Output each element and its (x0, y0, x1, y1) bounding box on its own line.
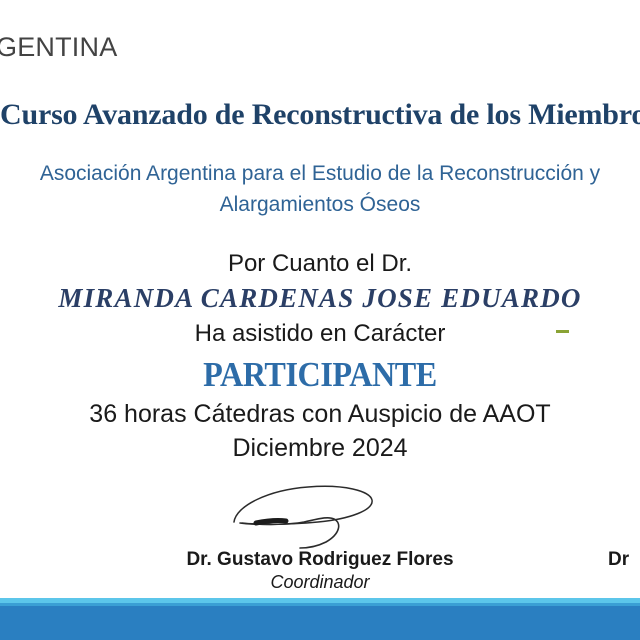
certificate-title: Curso Avanzado de Reconstructiva de los … (0, 98, 640, 132)
participation-type: PARTICIPANTE (26, 355, 615, 395)
hours-line: 36 horas Cátedras con Auspicio de AAOT (0, 400, 640, 429)
subtitle-line-1: Asociación Argentina para el Estudio de … (40, 162, 600, 185)
signature-primary-role: Coordinador (0, 572, 640, 593)
signature-primary-name: Dr. Gustavo Rodriguez Flores (0, 549, 640, 571)
ha-asistido-label: Ha asistido en Carácter (0, 320, 640, 348)
por-cuanto-label: Por Cuanto el Dr. (0, 250, 640, 278)
organization-name-clipped: GENTINA (0, 32, 117, 63)
signature-secondary-name-clipped: Dr (608, 549, 629, 571)
certificate-subtitle: Asociación Argentina para el Estudio de … (0, 158, 640, 220)
subtitle-line-2: Alargamientos Óseos (0, 189, 640, 220)
footer-accent-bar-main (0, 606, 640, 640)
certificate-page: GENTINA Curso Avanzado de Reconstructiva… (0, 0, 640, 640)
date-line: Diciembre 2024 (0, 434, 640, 463)
handwritten-signature-icon (222, 478, 382, 550)
dash-mark-icon (556, 330, 569, 333)
recipient-name: MIRANDA CARDENAS JOSE EDUARDO (0, 283, 640, 314)
